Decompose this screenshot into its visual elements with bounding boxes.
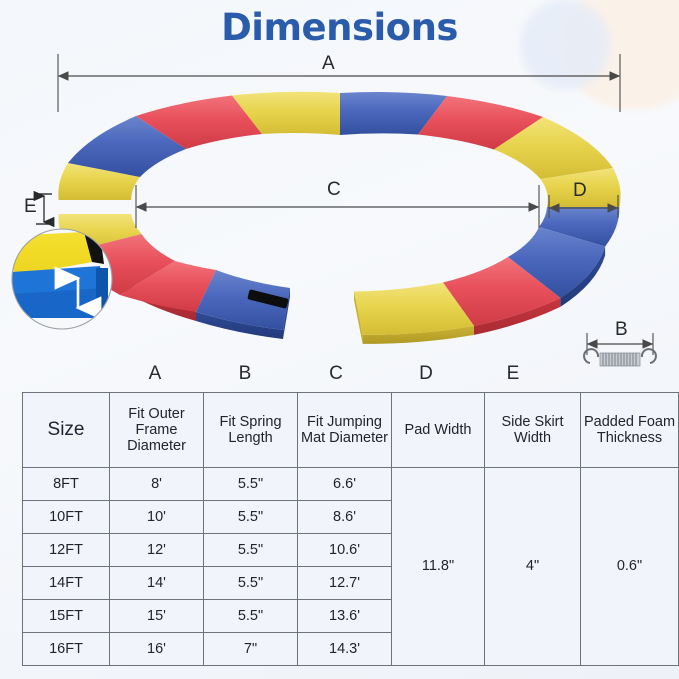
- header-size: Size: [23, 393, 110, 468]
- cell-outer-frame: 14': [110, 567, 204, 600]
- table-row: 8FT 8' 5.5" 6.6' 11.8" 4" 0.6": [23, 468, 679, 501]
- cell-size: 16FT: [23, 633, 110, 666]
- dimensions-infographic: Dimensions: [0, 0, 679, 679]
- cell-size: 15FT: [23, 600, 110, 633]
- cell-mat-diameter: 10.6': [298, 534, 392, 567]
- dimension-label-C: C: [327, 180, 341, 199]
- cell-outer-frame: 15': [110, 600, 204, 633]
- cell-size: 8FT: [23, 468, 110, 501]
- dimension-label-A: A: [322, 54, 335, 73]
- dimension-label-B: B: [615, 320, 628, 339]
- specification-table: Size Fit Outer Frame Diameter Fit Spring…: [22, 392, 679, 666]
- cell-spring-length: 5.5": [204, 468, 298, 501]
- dimension-E: [36, 194, 52, 224]
- cell-spring-length: 5.5": [204, 567, 298, 600]
- cell-padded-foam-thickness-merged: 0.6": [581, 468, 679, 666]
- trampoline-safety-pad-ring: [58, 92, 620, 344]
- header-fit-spring-length: Fit Spring Length: [204, 393, 298, 468]
- column-letter-a: A: [140, 363, 170, 385]
- column-letter-c: C: [321, 363, 351, 385]
- column-letter-b: B: [230, 363, 260, 385]
- table-header-row: Size Fit Outer Frame Diameter Fit Spring…: [23, 393, 679, 468]
- cell-spring-length: 5.5": [204, 534, 298, 567]
- header-pad-width: Pad Width: [392, 393, 485, 468]
- cell-size: 12FT: [23, 534, 110, 567]
- cell-outer-frame: 8': [110, 468, 204, 501]
- column-letter-d: D: [411, 363, 441, 385]
- cell-spring-length: 5.5": [204, 501, 298, 534]
- magnified-pad-cutaway-inset: [8, 229, 112, 329]
- cell-mat-diameter: 14.3': [298, 633, 392, 666]
- cell-outer-frame: 12': [110, 534, 204, 567]
- column-letter-e: E: [498, 363, 528, 385]
- cell-pad-width-merged: 11.8": [392, 468, 485, 666]
- cell-outer-frame: 10': [110, 501, 204, 534]
- cell-mat-diameter: 13.6': [298, 600, 392, 633]
- dimension-label-E: E: [24, 197, 37, 216]
- cell-mat-diameter: 6.6': [298, 468, 392, 501]
- cell-spring-length: 7": [204, 633, 298, 666]
- cell-spring-length: 5.5": [204, 600, 298, 633]
- cell-mat-diameter: 8.6': [298, 501, 392, 534]
- header-fit-outer-frame-diameter: Fit Outer Frame Diameter: [110, 393, 204, 468]
- header-padded-foam-thickness: Padded Foam Thickness: [581, 393, 679, 468]
- cell-mat-diameter: 12.7': [298, 567, 392, 600]
- cell-side-skirt-width-merged: 4": [485, 468, 581, 666]
- cell-outer-frame: 16': [110, 633, 204, 666]
- dimension-label-D: D: [573, 181, 587, 200]
- header-side-skirt-width: Side Skirt Width: [485, 393, 581, 468]
- cell-size: 14FT: [23, 567, 110, 600]
- cell-size: 10FT: [23, 501, 110, 534]
- header-fit-jumping-mat-diameter: Fit Jumping Mat Diameter: [298, 393, 392, 468]
